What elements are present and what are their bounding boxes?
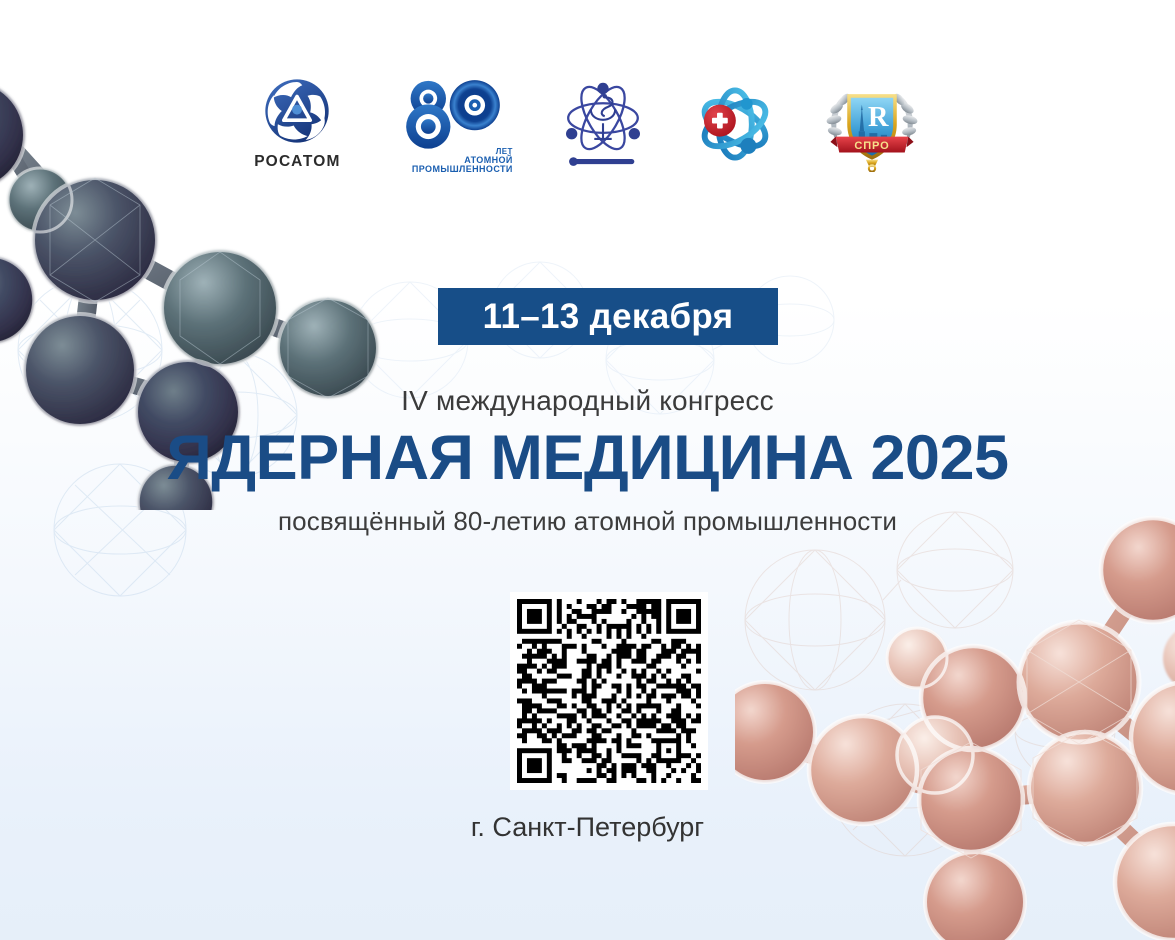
logo-medical-atom: [693, 78, 777, 166]
rosatom-wordmark: РОСАТОМ: [254, 153, 341, 171]
spro-ribbon-label: СПРО: [854, 140, 889, 152]
svg-text:R: R: [868, 102, 889, 133]
atom-medical-cross-icon: [693, 82, 777, 166]
congress-subtitle: IV международный конгресс: [0, 386, 1175, 417]
eighty-caption-line3: ПРОМЫШЛЕННОСТИ: [412, 165, 513, 174]
spro-emblem-icon: R СПРО: [823, 80, 921, 172]
date-banner-text: 11–13 декабря: [483, 297, 734, 337]
qr-code-frame[interactable]: [510, 592, 708, 790]
poster-canvas: РОСАТОМ: [0, 0, 1175, 940]
logo-row: РОСАТОМ: [0, 78, 1175, 190]
date-banner: 11–13 декабря: [438, 288, 778, 345]
qr-code[interactable]: [517, 599, 701, 783]
atom-hygieia-icon: [559, 78, 647, 172]
logo-nuclear-medicine: [559, 78, 647, 172]
eighty-years-logo-icon: [387, 78, 505, 150]
title-block: IV международный конгресс ЯДЕРНАЯ МЕДИЦИ…: [0, 386, 1175, 537]
location-label: г. Санкт-Петербург: [0, 812, 1175, 843]
dedication-subtitle: посвящённый 80-летию атомной промышленно…: [0, 506, 1175, 537]
eighty-years-caption: ЛЕТ АТОМНОЙ ПРОМЫШЛЕННОСТИ: [412, 148, 513, 175]
logo-eighty-years: ЛЕТ АТОМНОЙ ПРОМЫШЛЕННОСТИ: [387, 78, 513, 174]
logo-rosatom: РОСАТОМ: [254, 78, 341, 171]
rosatom-logo-icon: [264, 78, 330, 144]
logo-spro: R СПРО: [823, 78, 921, 172]
page-title: ЯДЕРНАЯ МЕДИЦИНА 2025: [0, 426, 1175, 490]
molecule-cluster-bottomright: [735, 470, 1175, 940]
